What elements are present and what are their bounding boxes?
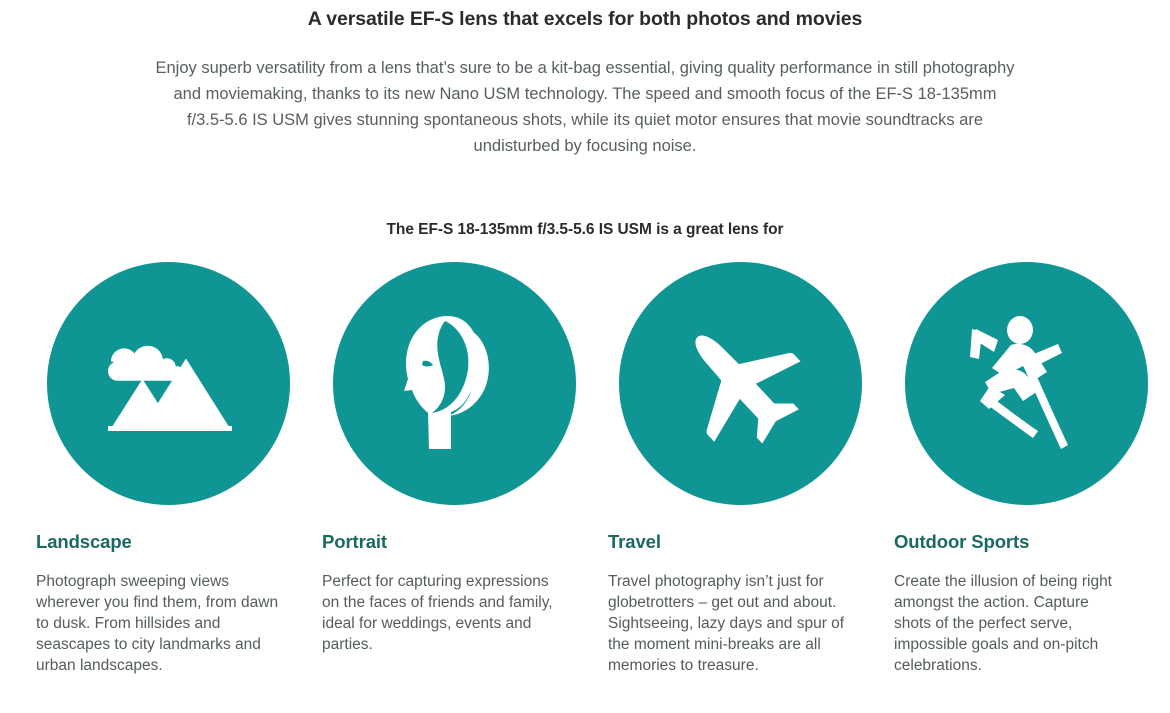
icon-circle-travel [619,262,862,505]
card-title: Outdoor Sports [894,531,1144,553]
intro-section: A versatile EF-S lens that excels for bo… [0,0,1170,159]
icon-circle-portrait [333,262,576,505]
card-title: Landscape [36,531,286,553]
icon-circle-outdoor-sports [905,262,1148,505]
use-case-card-grid: Landscape Photograph sweeping views wher… [36,262,1140,676]
card-description: Travel photography isn’t just for globet… [608,571,866,676]
page-title: A versatile EF-S lens that excels for bo… [0,6,1170,32]
use-case-card-landscape: Landscape Photograph sweeping views wher… [36,262,286,676]
icon-circle-landscape [47,262,290,505]
card-description: Photograph sweeping views wherever you f… [36,571,281,676]
use-case-card-outdoor-sports: Outdoor Sports Create the illusion of be… [894,262,1144,676]
card-title: Portrait [322,531,572,553]
use-case-card-portrait: Portrait Perfect for capturing expressio… [322,262,572,676]
intro-paragraph: Enjoy superb versatility from a lens tha… [155,55,1015,159]
card-description: Perfect for capturing expressions on the… [322,571,567,655]
mountain-cloud-icon [103,334,235,434]
card-title: Travel [608,531,858,553]
card-description: Create the illusion of being right among… [894,571,1119,676]
woman-profile-icon [396,314,514,454]
section-subheading: The EF-S 18-135mm f/3.5-5.6 IS USM is a … [0,221,1170,239]
use-case-card-travel: Travel Travel photography isn’t just for… [608,262,858,676]
airplane-icon [674,318,808,450]
ski-jumper-icon [962,313,1092,455]
